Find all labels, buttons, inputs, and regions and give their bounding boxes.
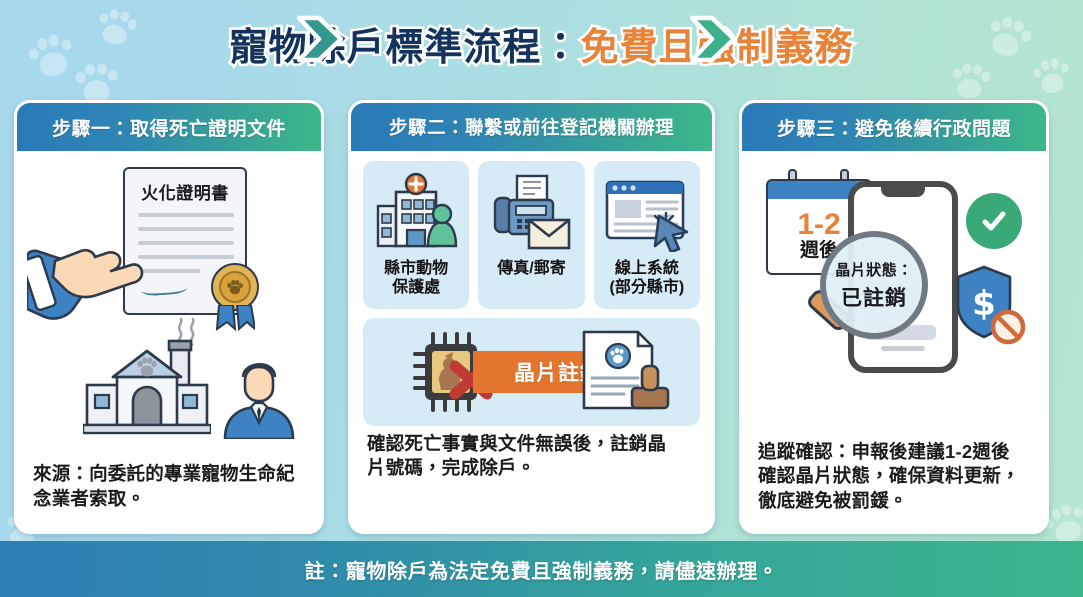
step-connector-arrow-1 (297, 8, 343, 70)
steps-row: 步驟一：取得死亡證明文件 火化證明書 (14, 100, 1069, 536)
footer-note-bar: 註：寵物除戶為法定免費且強制義務，請儘速辦理。 (0, 541, 1083, 597)
step-3-panel: 步驟三：避免後續行政問題 1-2 週後 (739, 100, 1049, 534)
fax-envelope-icon (482, 169, 580, 255)
step-1-caption: 來源：向委託的專業寵物生命紀念業者索取。 (27, 462, 311, 523)
title-main: 寵物除戶標準流程： (229, 27, 580, 69)
crematorium-building-icon (83, 339, 211, 435)
channel-label: 線上系統 (部分縣市) (609, 259, 684, 297)
footer-note-text: 註：寵物除戶為法定免費且強制義務，請儘速辦理。 (305, 555, 779, 584)
channel-label: 縣市動物 保護處 (384, 259, 448, 297)
hand-icon (27, 217, 157, 327)
svg-text:$: $ (972, 284, 996, 324)
magnifier-icon: 晶片狀態： 已註銷 (800, 231, 928, 359)
government-building-icon (367, 169, 465, 255)
chip-status-value: 已註銷 (841, 282, 907, 312)
infographic-canvas: 寵物除戶標準流程：免費且強制義務 步驟一：取得死亡證明文件 火化證明書 (0, 0, 1083, 597)
step-1-panel: 步驟一：取得死亡證明文件 火化證明書 (14, 100, 324, 534)
certificate-title: 火化證明書 (125, 179, 245, 204)
browser-cursor-icon (598, 169, 696, 255)
step-1-body: 火化證明書 (17, 151, 321, 531)
step-3-header: 步驟三：避免後續行政問題 (742, 103, 1046, 151)
step-2-caption: 確認死亡事實與文件無誤後，註銷晶 片號碼，完成除戶。 (361, 432, 702, 491)
step-3-body: 1-2 週後 (742, 151, 1046, 531)
channel-card-fax-mail[interactable]: 傳真/郵寄 (478, 161, 584, 309)
channel-label: 傳真/郵寄 (497, 259, 565, 278)
channel-cards: 縣市動物 保護處 (361, 157, 702, 309)
paw-seal-icon (211, 263, 259, 311)
ribbon-icon (215, 305, 255, 331)
step-2-header: 步驟二：聯繫或前往登記機關辦理 (351, 103, 712, 151)
channel-card-online-system[interactable]: 線上系統 (部分縣市) (594, 161, 700, 309)
page-title: 寵物除戶標準流程：免費且強制義務 (0, 16, 1083, 71)
chip-status-label: 晶片狀態： (835, 259, 913, 280)
magnifier-lens: 晶片狀態： 已註銷 (820, 231, 928, 339)
chip-cancellation-card: 晶片註銷 (363, 318, 700, 426)
document-stamp-icon (576, 328, 672, 416)
staff-person-icon (223, 353, 295, 439)
check-circle-icon (966, 193, 1022, 249)
step-connector-arrow-2 (690, 8, 736, 70)
step-2-panel: 步驟二：聯繫或前往登記機關辦理 (348, 100, 715, 534)
step-3-caption: 追蹤確認：申報後建議1-2週後 確認晶片狀態，確保資料更新， 徹底避免被罰鍰。 (752, 440, 1036, 523)
step-2-body: 縣市動物 保護處 (351, 151, 712, 531)
shield-dollar-icon: $ (950, 263, 1026, 347)
prohibition-icon (993, 312, 1023, 342)
channel-card-animal-protection-office[interactable]: 縣市動物 保護處 (363, 161, 469, 309)
step-1-header: 步驟一：取得死亡證明文件 (17, 103, 321, 151)
step-3-artwork: 1-2 週後 (752, 157, 1036, 425)
step-1-artwork: 火化證明書 (27, 157, 311, 457)
